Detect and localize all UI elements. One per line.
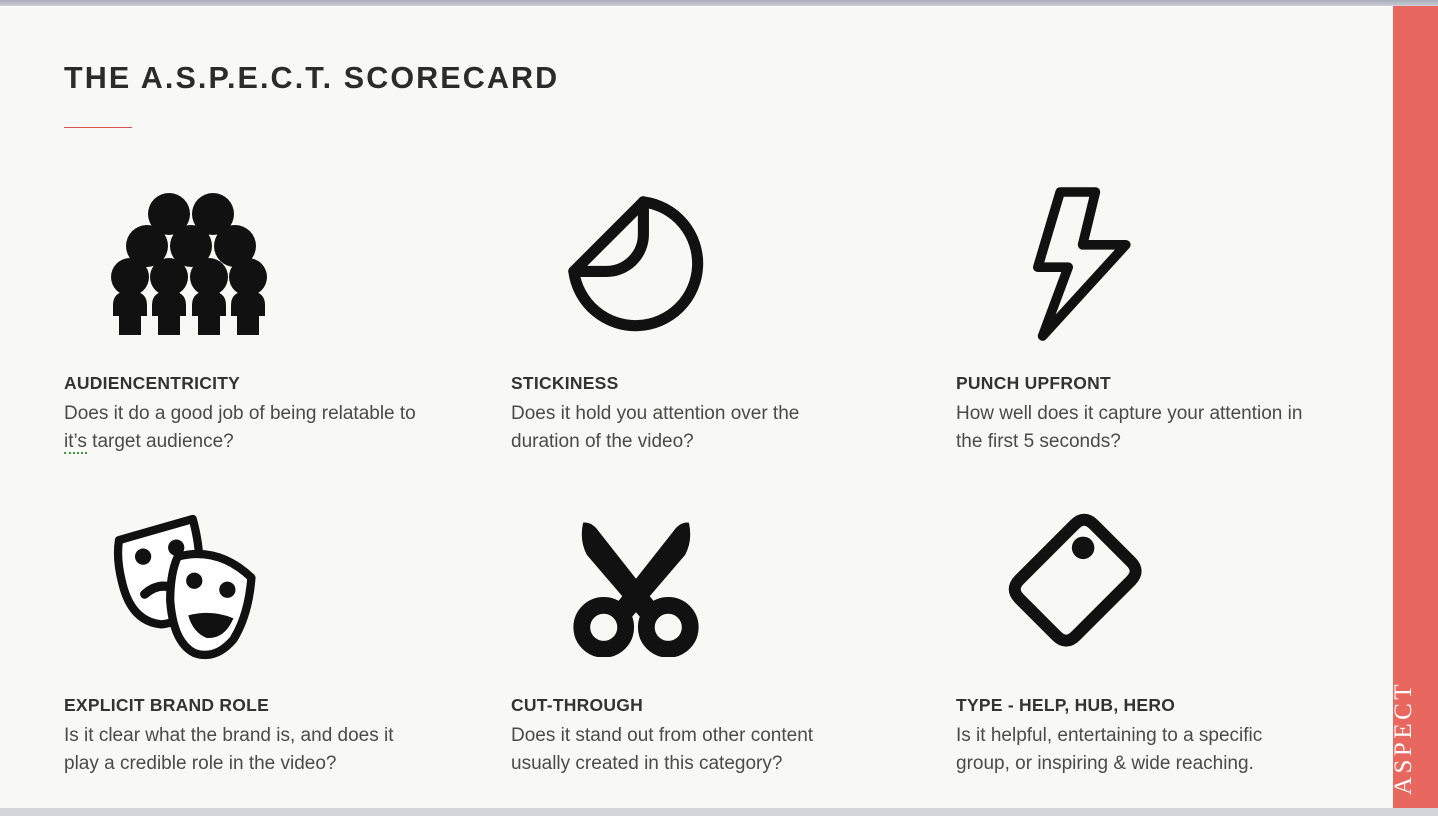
icon-container [956,176,1356,351]
scorecard-item-body: Does it hold you attention over the dura… [511,400,871,456]
scorecard-item-punch-upfront: PUNCH UPFRONT How well does it capture y… [956,176,1356,456]
lightning-bolt-icon [1025,184,1137,344]
scorecard-item-cut-through: CUT-THROUGH Does it stand out from other… [511,498,911,778]
title-underline-rule [64,127,132,128]
scorecard-item-explicit-brand-role: EXPLICIT BRAND ROLE Is it clear what the… [64,498,464,778]
misspelled-word: it’s [64,431,87,454]
scorecard-item-title: STICKINESS [511,373,911,394]
body-text-after: target audience? [87,431,234,452]
scorecard-item-title: PUNCH UPFRONT [956,373,1356,394]
presentation-viewer: THE A.S.P.E.C.T. SCORECARD [0,0,1438,816]
accent-sidebar: ASPECT [1393,6,1438,808]
scorecard-item-body: Does it do a good job of being relatable… [64,400,424,456]
scissors-icon [571,515,701,657]
scorecard-item-body: Is it helpful, entertaining to a specifi… [956,722,1316,778]
scorecard-item-title: EXPLICIT BRAND ROLE [64,695,464,716]
price-tag-icon [1005,511,1157,661]
scorecard-item-type: TYPE - HELP, HUB, HERO Is it helpful, en… [956,498,1356,778]
scorecard-item-stickiness: STICKINESS Does it hold you attention ov… [511,176,911,456]
icon-container [511,498,911,673]
accent-sidebar-label: ASPECT [1391,681,1416,795]
scorecard-item-title: AUDIENCENTRICITY [64,373,464,394]
icon-container [64,498,464,673]
icon-container [64,176,464,351]
icon-container [956,498,1356,673]
scorecard-item-body: Does it stand out from other content usu… [511,722,871,778]
scorecard-item-title: CUT-THROUGH [511,695,911,716]
body-text-before: Does it do a good job of being relatable… [64,403,416,424]
crowd-icon [110,193,268,335]
slide-canvas: THE A.S.P.E.C.T. SCORECARD [0,6,1438,808]
icon-container [511,176,911,351]
sticker-peel-icon [562,190,710,338]
scorecard-item-body: Is it clear what the brand is, and does … [64,722,424,778]
page-title: THE A.S.P.E.C.T. SCORECARD [64,62,559,96]
scorecard-item-audiencentricity: AUDIENCENTRICITY Does it do a good job o… [64,176,464,456]
scorecard-item-body: How well does it capture your attention … [956,400,1316,456]
scorecard-grid: AUDIENCENTRICITY Does it do a good job o… [0,176,1393,808]
theatre-masks-icon [109,507,269,665]
scorecard-item-title: TYPE - HELP, HUB, HERO [956,695,1356,716]
